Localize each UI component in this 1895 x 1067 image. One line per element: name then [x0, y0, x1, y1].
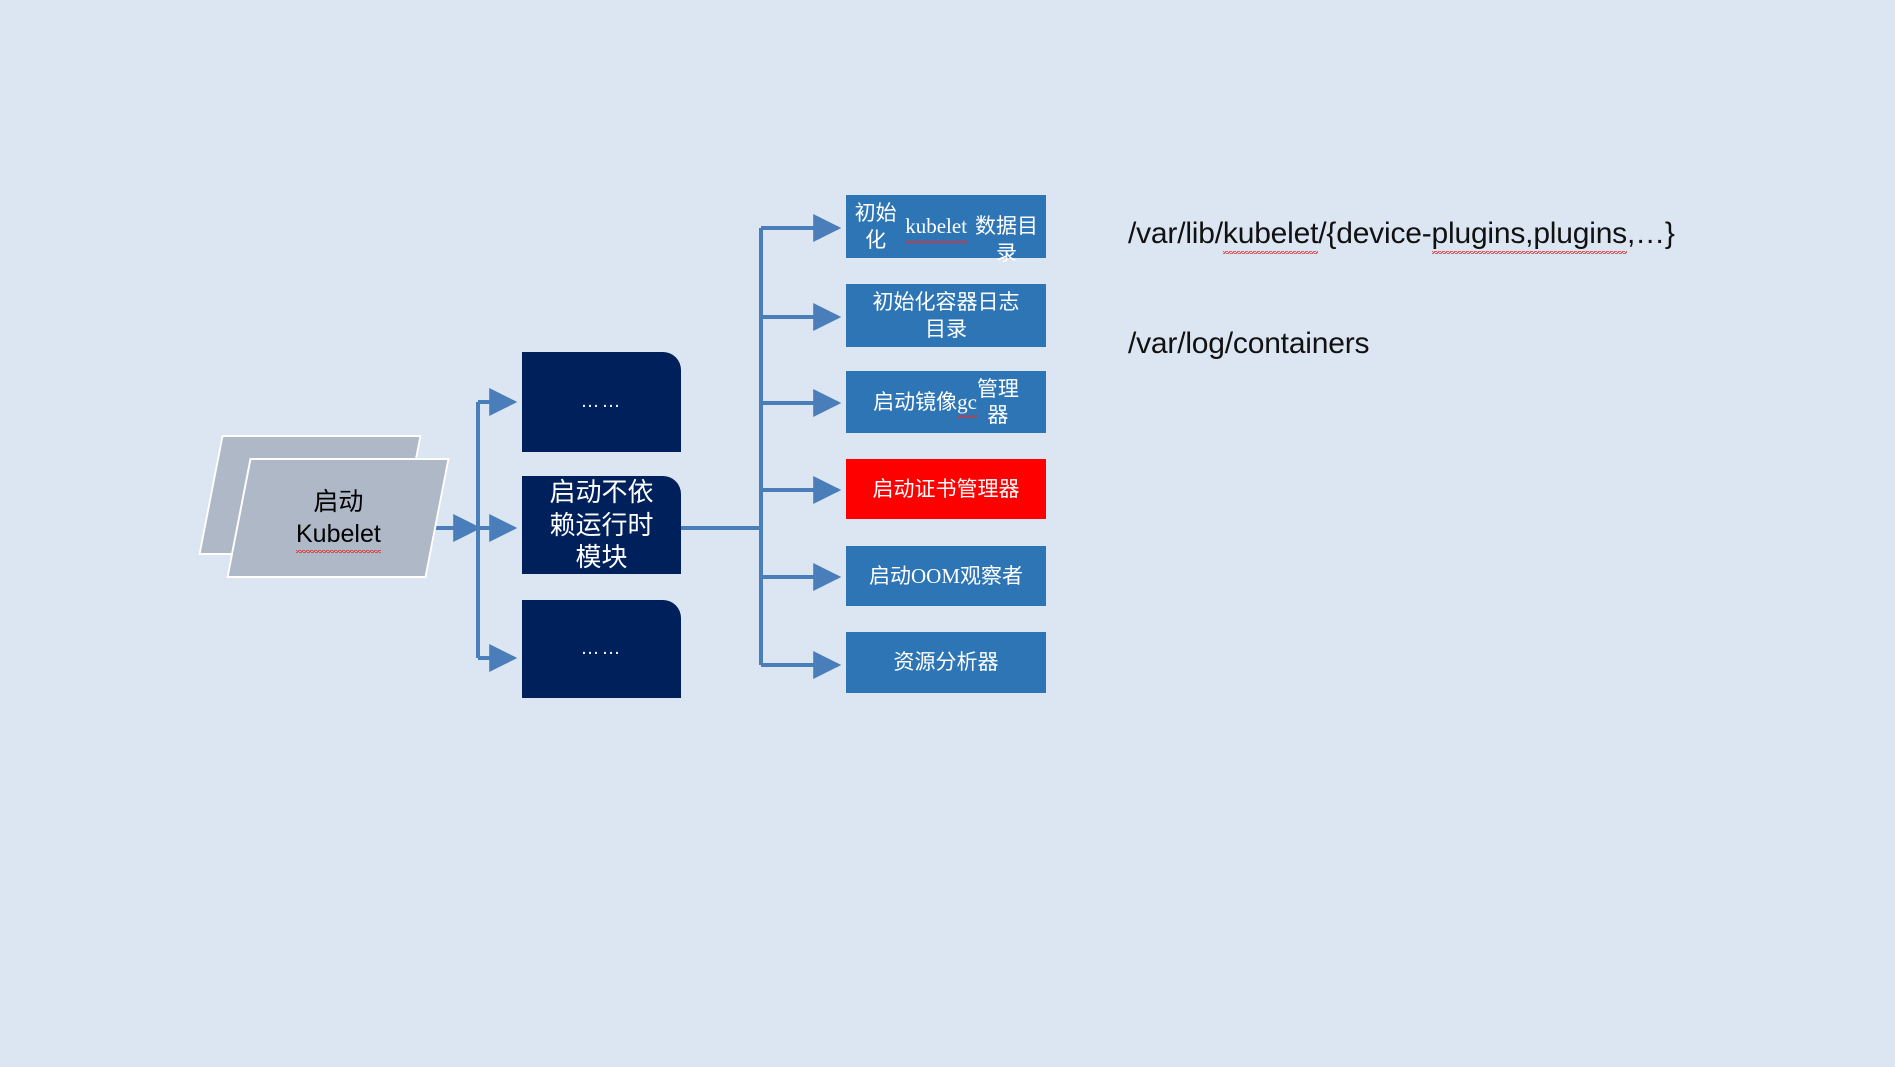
mid-node-ellipsis-top[interactable]: ……	[522, 352, 681, 452]
start-node-label: 启动Kubelet	[296, 486, 381, 550]
mid-node-start-runtime-independent[interactable]: 启动不依 赖运行时 模块	[522, 476, 681, 574]
start-node-label-line2: Kubelet	[296, 518, 381, 550]
spellcheck-word: gc	[957, 389, 977, 415]
step-init-kubelet-dirs[interactable]: 初始化kubelet数据目录	[846, 195, 1046, 258]
step-init-container-log-dir[interactable]: 初始化容器日志 目录	[846, 284, 1046, 347]
step-start-image-gc-manager[interactable]: 启动镜像gc管理器	[846, 371, 1046, 433]
start-node-label-line1: 启动	[313, 488, 363, 516]
diagram-canvas: 启动Kubelet …… 启动不依 赖运行时 模块 …… 初始化kubelet数…	[0, 0, 1895, 1067]
mid-node-ellipsis-bottom[interactable]: ……	[522, 600, 681, 698]
spellcheck-word: plugins,plugins	[1432, 217, 1627, 251]
note-container-log-path: /var/log/containers	[1128, 327, 1369, 361]
start-node-shape: 启动Kubelet	[226, 458, 449, 578]
spellcheck-word: kubelet	[905, 213, 967, 239]
mid-node-ellipsis-top-label: ……	[581, 390, 623, 414]
mid-node-ellipsis-bottom-label: ……	[581, 637, 623, 661]
spellcheck-word: kubelet	[1223, 217, 1318, 251]
step-start-oom-watcher[interactable]: 启动OOM观察者	[846, 546, 1046, 606]
note-kubelet-data-path: /var/lib/kubelet/{device-plugins,plugins…	[1128, 217, 1675, 251]
step-start-certificate-manager[interactable]: 启动证书管理器	[846, 459, 1046, 519]
step-resource-analyzer[interactable]: 资源分析器	[846, 632, 1046, 693]
